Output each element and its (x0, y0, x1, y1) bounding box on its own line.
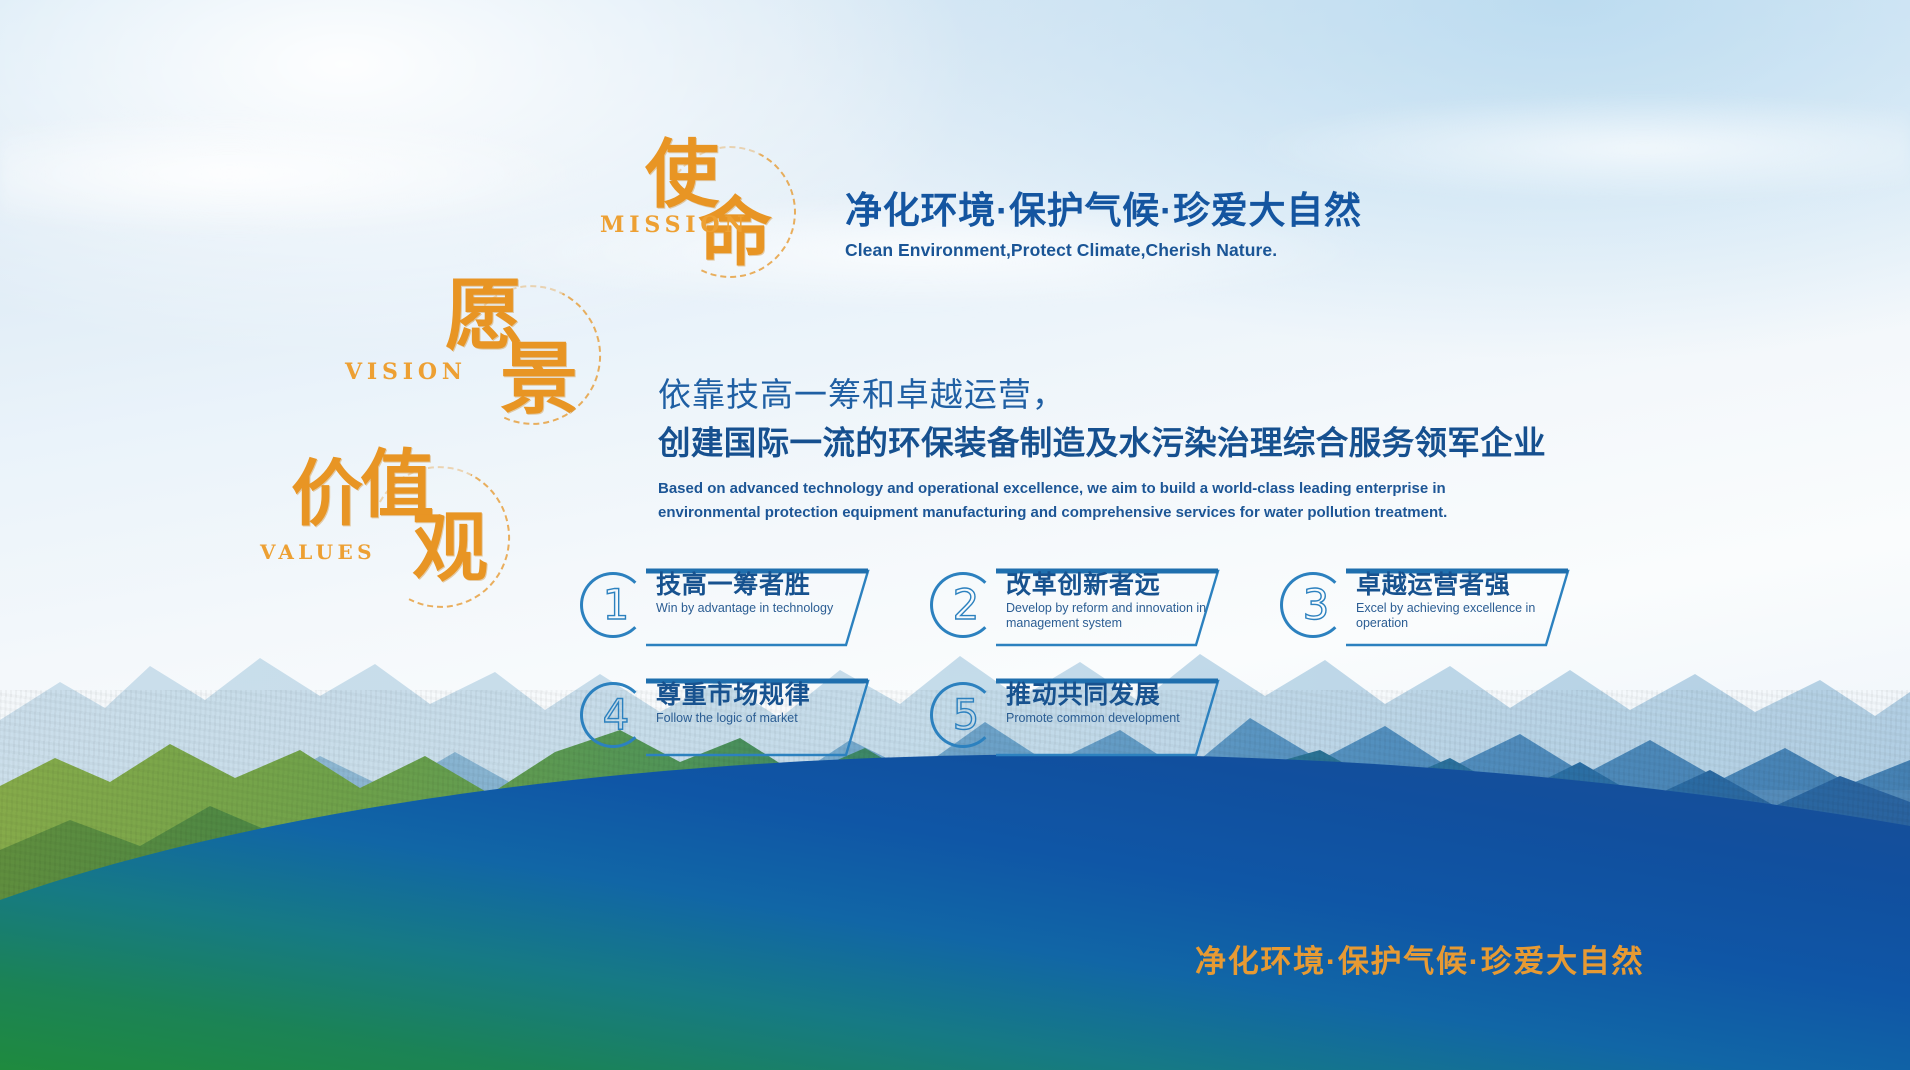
vision-romanized-label: VISION (345, 359, 467, 385)
values-calligraphy-badge: 价 值 观 VALUES (300, 462, 530, 612)
mission-text-block: 净化环境·保护气候·珍爱大自然 Clean Environment,Protec… (845, 189, 1605, 261)
mission-romanized-label: MISSION (600, 212, 749, 238)
value-card-1[interactable]: 1 技高一筹者胜 Win by advantage in technology (580, 565, 880, 651)
value-subtitle-en: Excel by achieving excellence in operati… (1356, 601, 1580, 632)
value-subtitle-en: Win by advantage in technology (656, 601, 833, 616)
value-card-3[interactable]: 3 卓越运营者强 Excel by achieving excellence i… (1280, 565, 1580, 651)
value-card-5[interactable]: 5 推动共同发展 Promote common development (930, 675, 1230, 761)
mission-headline-cn: 净化环境·保护气候·珍爱大自然 (845, 189, 1605, 233)
bottom-curved-band (0, 740, 1910, 1070)
value-card-2[interactable]: 2 改革创新者远 Develop by reform and innovatio… (930, 565, 1230, 651)
value-subtitle-en: Promote common development (1006, 711, 1180, 726)
mission-calligraphy-badge: 使 命 MISSION (612, 150, 812, 280)
values-char-3: 观 (412, 512, 488, 584)
value-number: 4 (596, 691, 636, 739)
value-number: 5 (946, 691, 986, 739)
vision-paragraph-en: Based on advanced technology and operati… (658, 477, 1538, 526)
value-title-cn: 改革创新者远 (1006, 571, 1230, 599)
value-number: 2 (946, 581, 986, 629)
value-number: 3 (1296, 581, 1336, 629)
vision-line2-cn: 创建国际一流的环保装备制造及水污染治理综合服务领军企业 (658, 424, 1578, 463)
value-subtitle-en: Develop by reform and innovation in mana… (1006, 601, 1230, 632)
vision-calligraphy-badge: 愿 景 VISION (425, 287, 635, 427)
vision-text-block: 依靠技高一筹和卓越运营， 创建国际一流的环保装备制造及水污染治理综合服务领军企业… (658, 375, 1578, 525)
value-title-cn: 尊重市场规律 (656, 681, 811, 709)
value-subtitle-en: Follow the logic of market (656, 711, 811, 726)
value-card-4[interactable]: 4 尊重市场规律 Follow the logic of market (580, 675, 880, 761)
values-char-1: 价 (291, 460, 363, 528)
values-romanized-label: VALUES (260, 540, 376, 564)
value-title-cn: 技高一筹者胜 (656, 571, 833, 599)
mission-headline-en: Clean Environment,Protect Climate,Cheris… (845, 240, 1605, 261)
vision-line1-cn: 依靠技高一筹和卓越运营， (658, 375, 1578, 415)
value-title-cn: 卓越运营者强 (1356, 571, 1580, 599)
value-title-cn: 推动共同发展 (1006, 681, 1180, 709)
value-number: 1 (596, 581, 636, 629)
vision-char-2: 景 (500, 343, 578, 417)
footer-tagline: 净化环境·保护气候·珍爱大自然 (1195, 936, 1644, 981)
corporate-culture-poster: 使 命 MISSION 净化环境·保护气候·珍爱大自然 Clean Enviro… (0, 0, 1910, 1070)
